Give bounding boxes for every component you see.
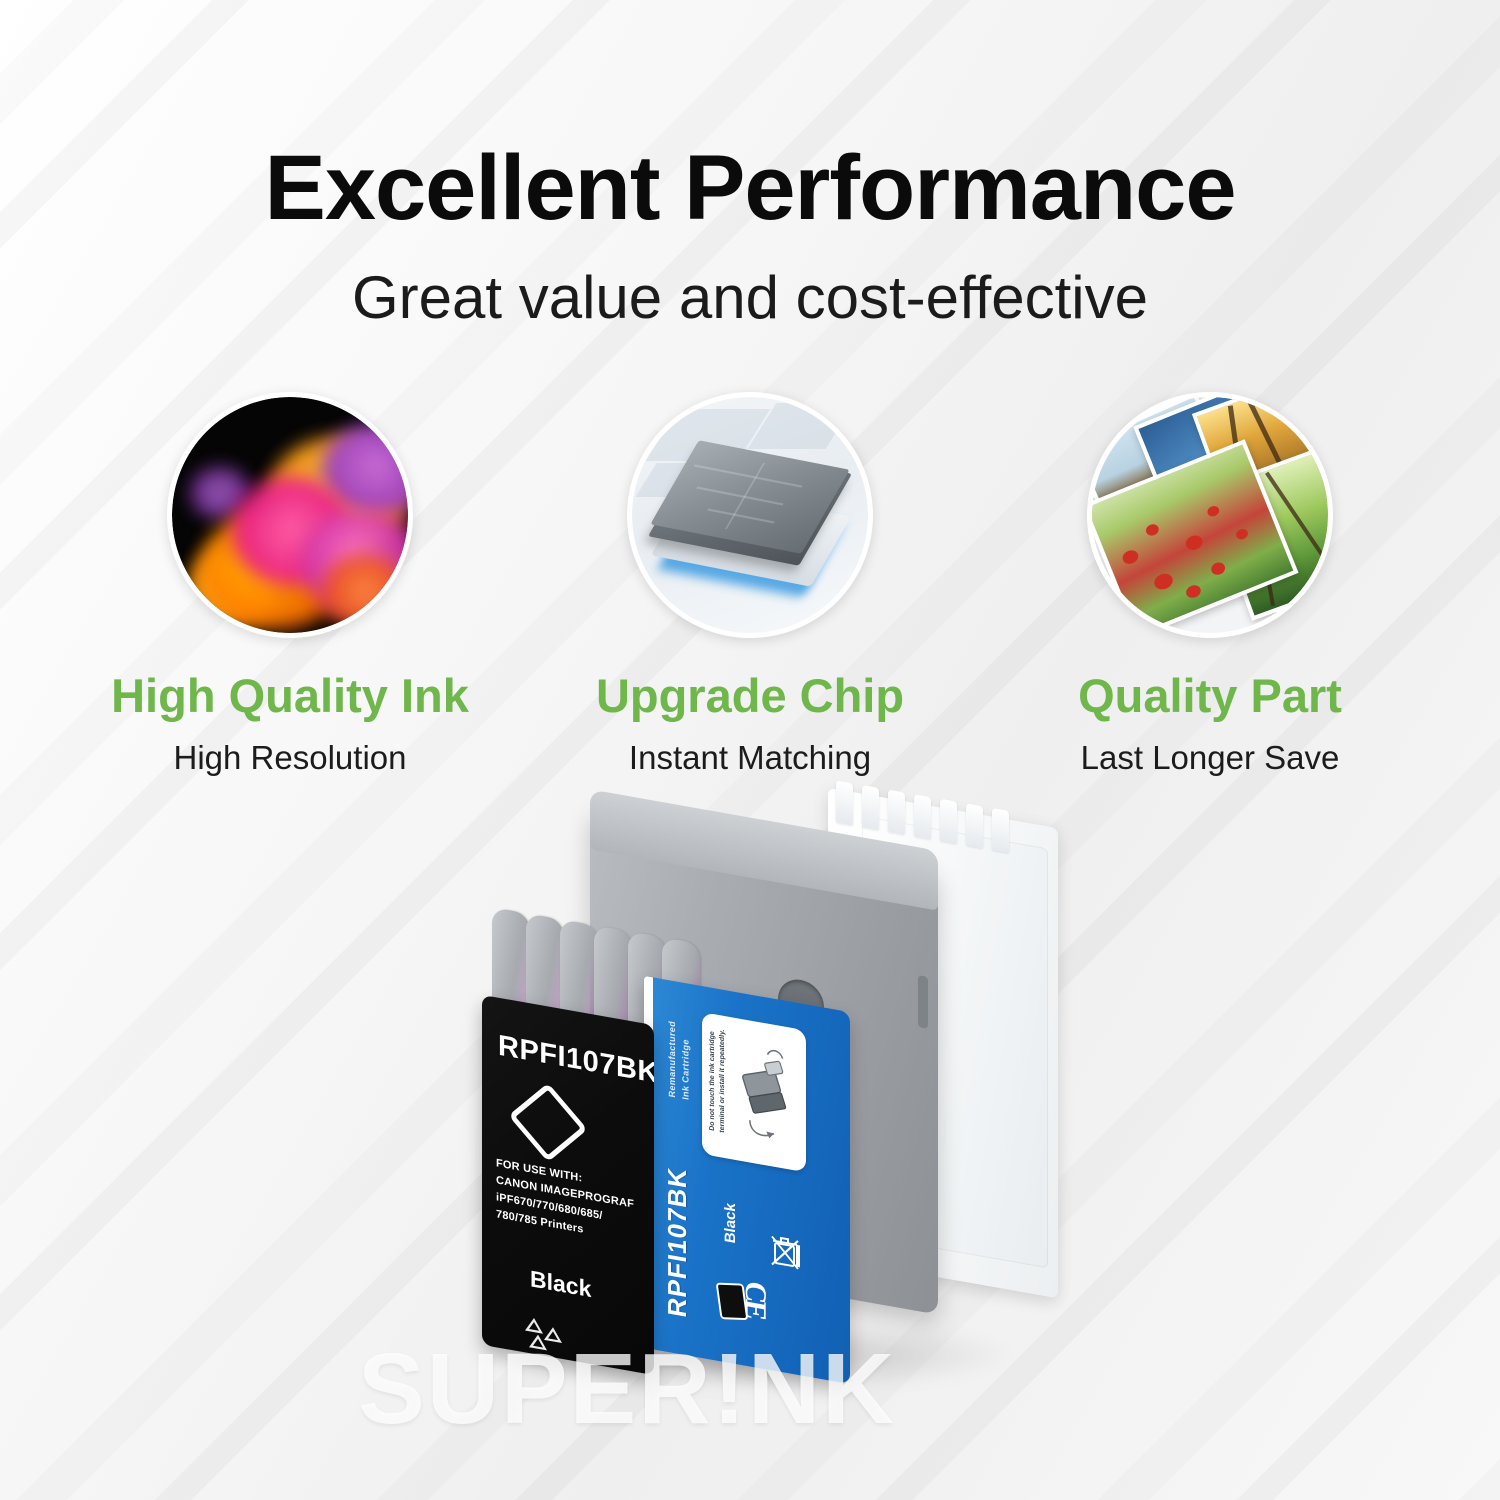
feature-subtitle: Instant Matching xyxy=(629,741,871,774)
printed-photos-circle xyxy=(1087,392,1333,638)
feature-subtitle: High Resolution xyxy=(174,741,407,774)
ink-splash-circle xyxy=(167,392,413,638)
feature-upgrade-chip: Upgrade Chip Instant Matching xyxy=(540,392,960,774)
ink-drop-diamond-icon xyxy=(508,1083,587,1162)
cartridge-install-diagram-icon xyxy=(728,1037,800,1154)
ce-mark: CE xyxy=(738,1278,772,1320)
feature-title: Upgrade Chip xyxy=(596,672,904,719)
page-subheadline: Great value and cost-effective xyxy=(0,268,1500,328)
feature-subtitle: Last Longer Save xyxy=(1081,741,1340,774)
feature-list: High Quality Ink High Resolution xyxy=(80,392,1420,792)
feature-quality-part: Quality Part Last Longer Save xyxy=(1000,392,1420,774)
weee-crossed-bin-icon xyxy=(768,1230,802,1274)
cartridge-side-nub xyxy=(918,975,928,1029)
ink-cartridge-product-image: Remanufactured Ink Cartridge Do not touc… xyxy=(430,780,1130,1480)
feature-title: High Quality Ink xyxy=(111,672,469,719)
feature-title: Quality Part xyxy=(1078,672,1342,719)
front-label-fine-print: FOR USE WITH: CANON IMAGEPROGRAF iPF670/… xyxy=(496,1155,646,1250)
chip-circle xyxy=(627,392,873,638)
side-label-code: RPFI107BK xyxy=(662,1165,693,1320)
front-label-color-name: Black xyxy=(530,1265,591,1303)
feature-high-quality-ink: High Quality Ink High Resolution xyxy=(80,392,500,774)
product-infographic-page: Excellent Performance Great value and co… xyxy=(0,0,1500,1500)
ink-splash-icon xyxy=(172,397,408,633)
chip-icon xyxy=(632,397,868,633)
side-label-small-print: Remanufactured Ink Cartridge xyxy=(666,1020,693,1101)
cartridge-black-front-label: RPFI107BK FOR USE WITH: CANON IMAGEPROGR… xyxy=(482,995,654,1375)
page-headline: Excellent Performance xyxy=(0,142,1500,234)
front-label-code: RPFI107BK xyxy=(498,1030,654,1091)
side-label-color-name: Black xyxy=(722,1202,739,1245)
printed-photos-icon xyxy=(1092,397,1328,633)
sticker-text: Do not touch the ink cartridge terminal … xyxy=(708,1027,728,1134)
cartridge-blue-side-label: Remanufactured Ink Cartridge Do not touc… xyxy=(644,976,850,1384)
install-instruction-sticker: Do not touch the ink cartridge terminal … xyxy=(702,1012,806,1172)
recycle-icon xyxy=(522,1314,566,1358)
